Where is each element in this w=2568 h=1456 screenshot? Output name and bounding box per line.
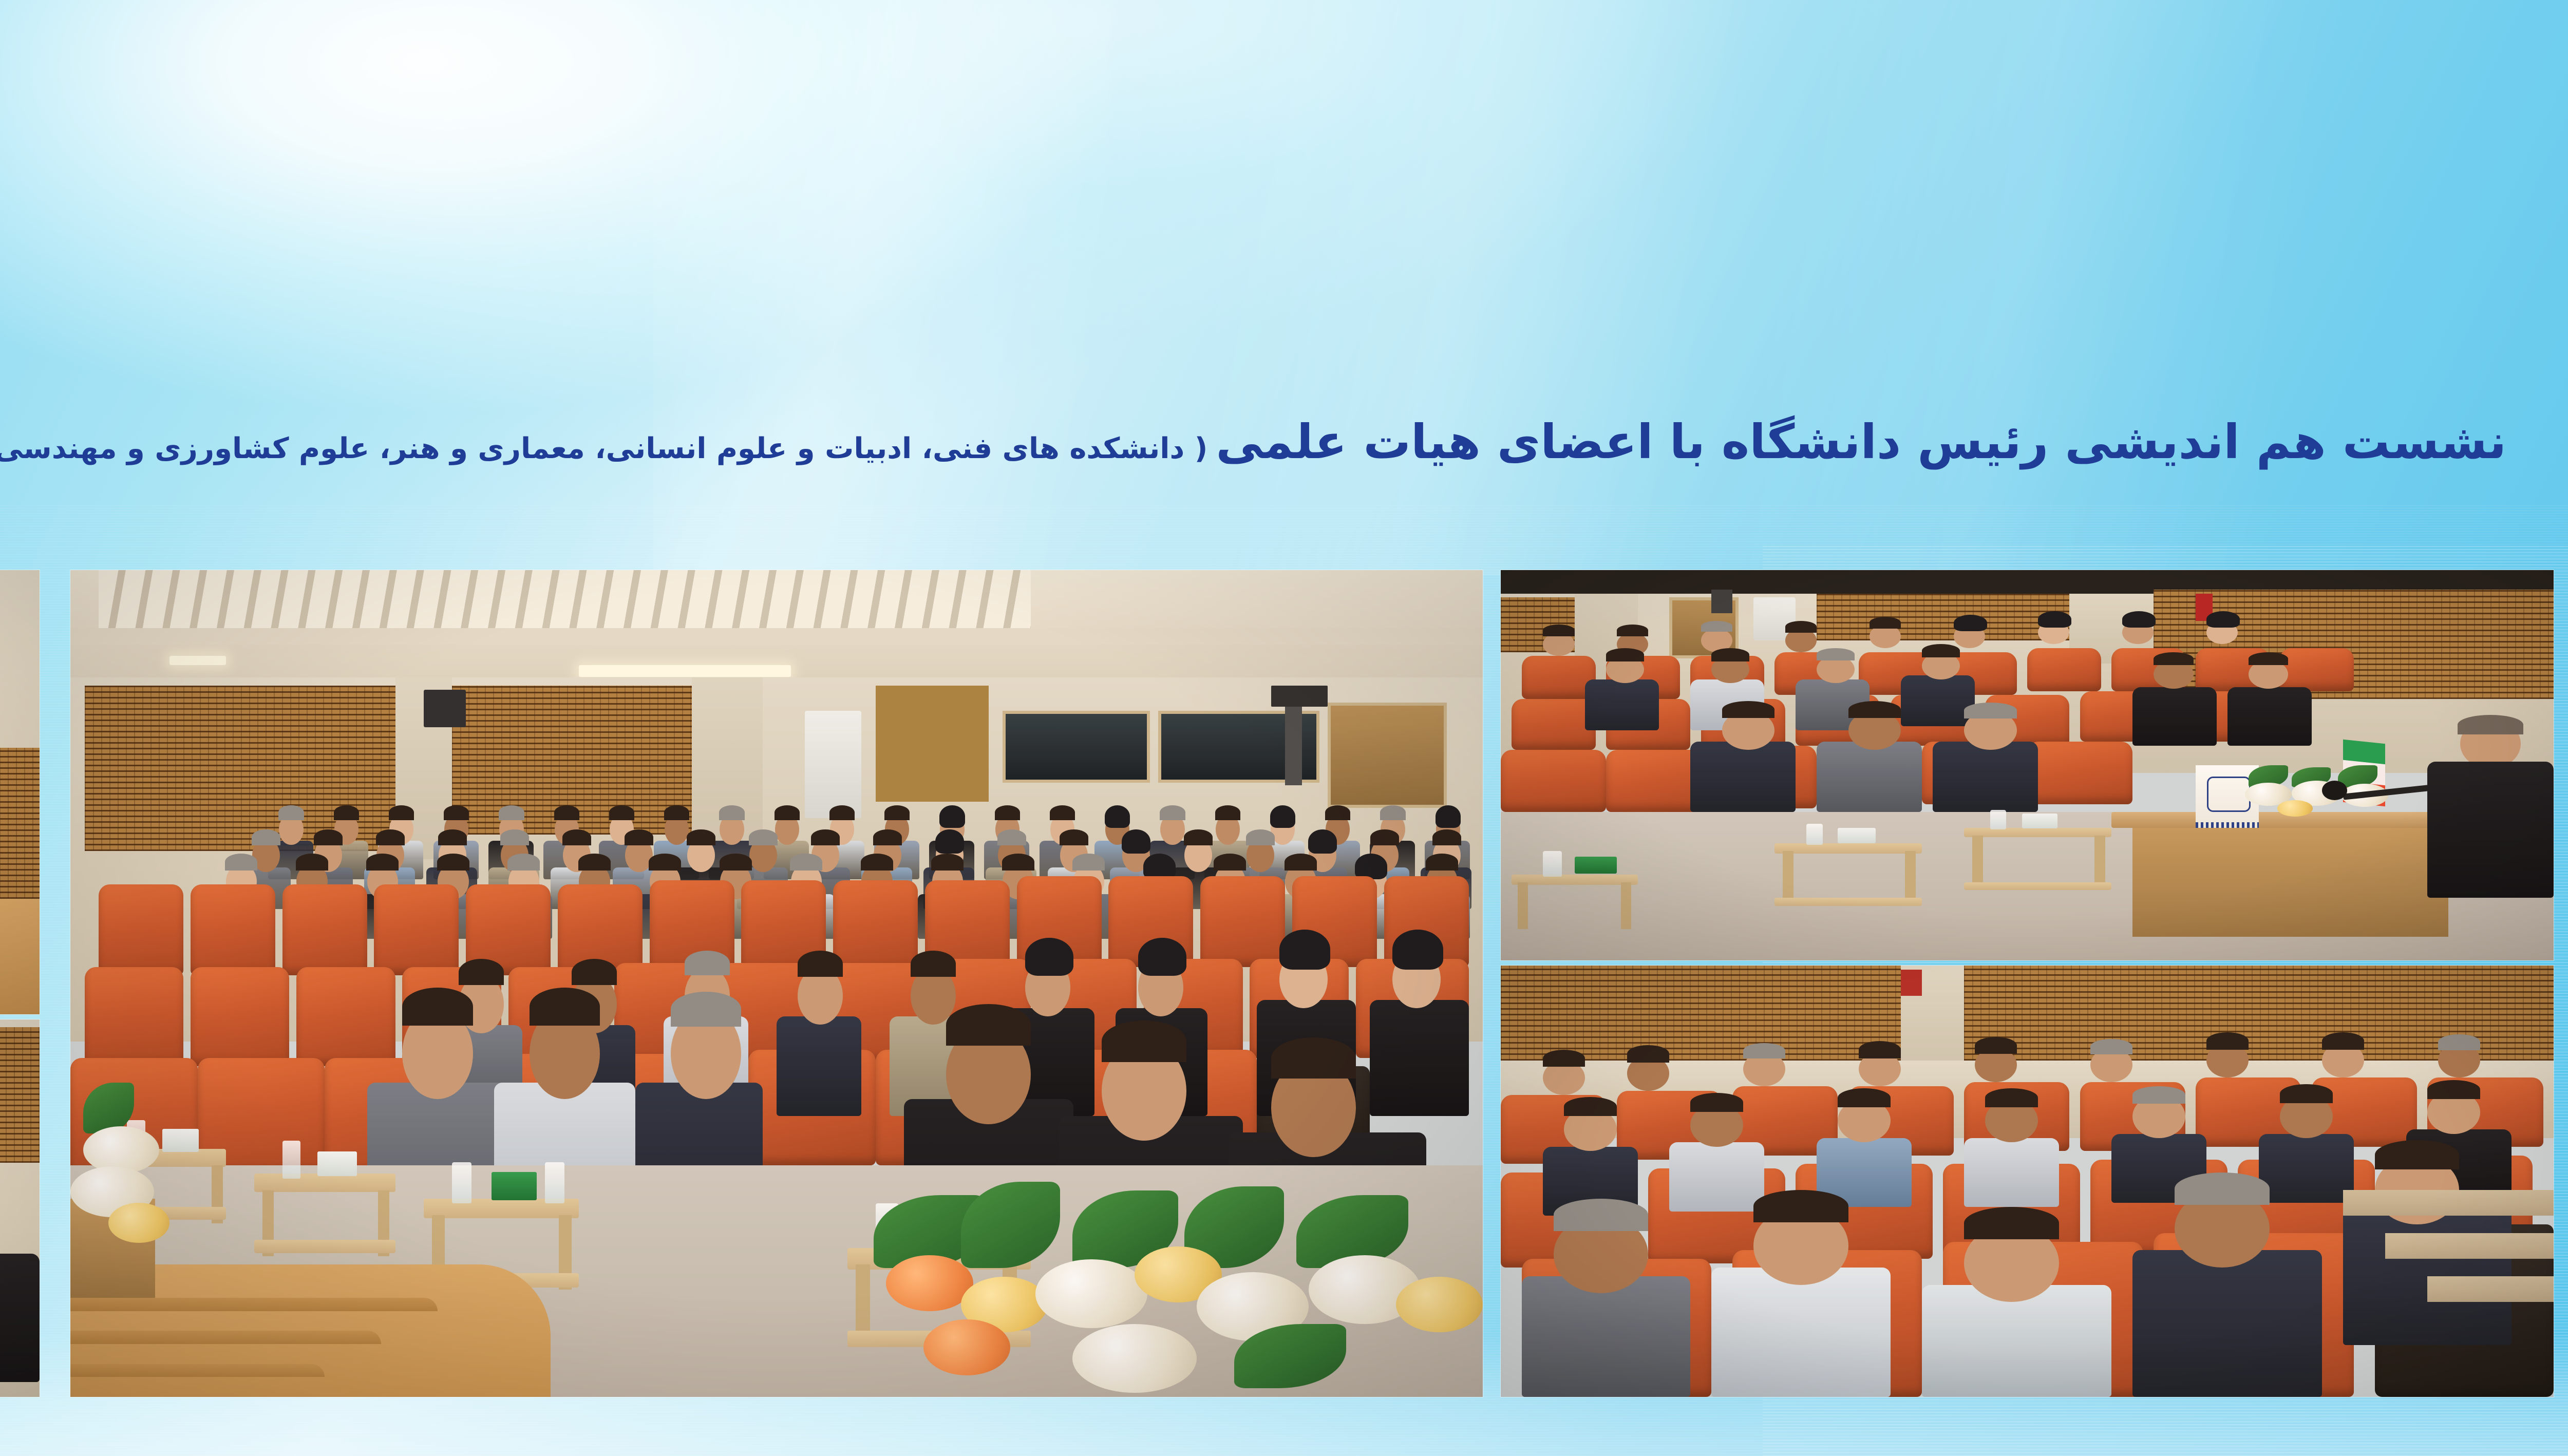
photo-column-center [70,570,1483,1397]
photo-column-left [0,570,40,1397]
headline: نشست هم اندیشی رئیس دانشگاه با اعضای هیا… [0,419,2506,466]
event-banner: روابط عمومی دانشگاه گیلان نشست هم اندیشی… [0,0,2568,1456]
photo-right-top [1501,570,2554,960]
photo-center [70,570,1483,1397]
headline-parenthetical: ( دانشکده های فنی، ادبیات و علوم انسانی،… [0,432,1207,465]
headline-main: نشست هم اندیشی رئیس دانشگاه با اعضای هیا… [1216,414,2506,469]
photo-left-top [0,570,40,1014]
photo-left-bottom [0,1019,40,1397]
photo-column-right [1501,570,2554,1397]
background-facet-streaks [653,0,2568,575]
photo-grid [0,570,2554,1397]
photo-right-bottom [1501,966,2554,1397]
